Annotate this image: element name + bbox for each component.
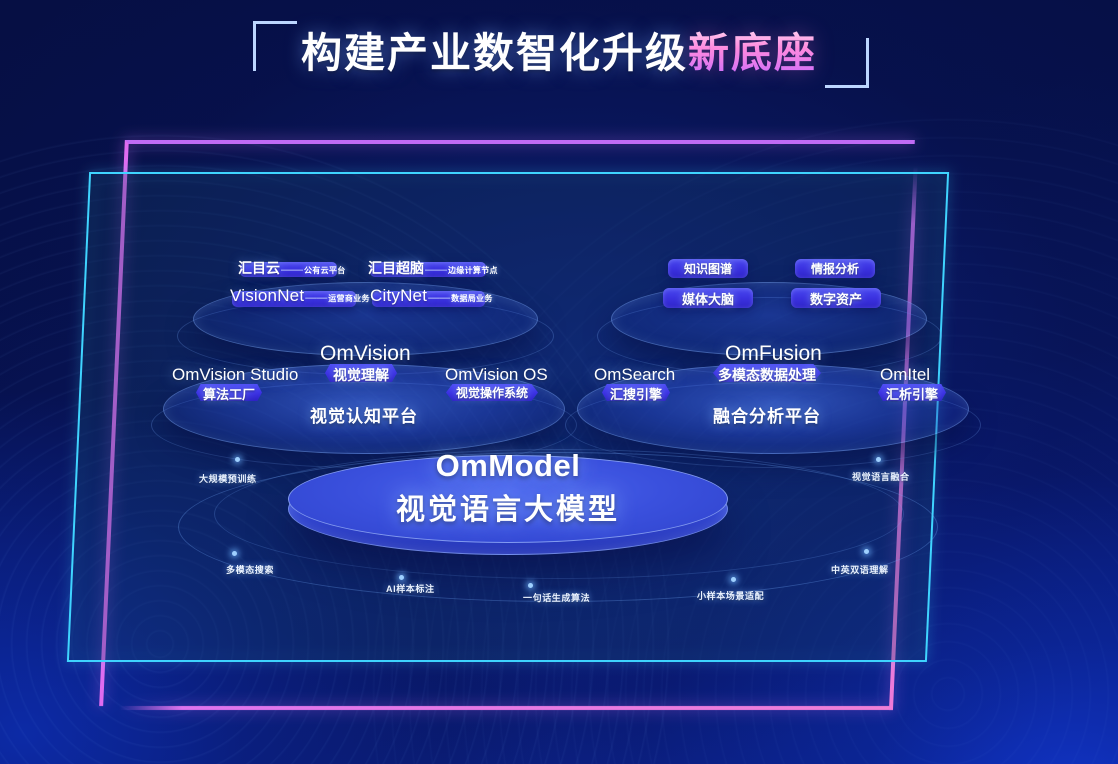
cloud-item-desc: 运营商业务 [328,293,370,304]
cloud-item-media-brain[interactable]: 媒体大脑 [663,288,753,308]
platform-label-fusion-analysis: 融合分析平台 [713,402,821,427]
ommodel-title-en[interactable]: OmModel [288,448,728,484]
brand-omitel-en[interactable]: OmItel [880,365,930,385]
cloud-item-huimuchaonao[interactable]: 汇目超脑 —— 边缘计算节点 [368,258,498,278]
dash-separator: —— [305,292,327,304]
brand-omvision-en[interactable]: OmVision [320,342,411,366]
feature-label-bilingual[interactable]: 中英双语理解 [831,563,889,576]
cloud-item-name: VisionNet [230,286,304,306]
feature-node-dot [876,457,881,462]
cloud-item-name: 汇目超脑 [368,258,424,278]
feature-node-dot [864,549,869,554]
dash-separator: —— [428,292,450,304]
cloud-item-huimuyun[interactable]: 汇目云 —— 公有云平台 [238,258,346,278]
ommodel-title-cn[interactable]: 视觉语言大模型 [288,486,728,528]
bracket-bottom-right-icon [825,38,869,88]
cloud-item-visionnet[interactable]: VisionNet —— 运营商业务 [230,286,370,306]
title-area: 构建产业数智化升级新底座 [0,14,1118,92]
brand-omsearch-en[interactable]: OmSearch [594,365,675,385]
feature-label-ai-annotation[interactable]: AI样本标注 [386,582,435,595]
brand-omvision-os-en[interactable]: OmVision OS [445,365,548,385]
bracket-top-left-icon [253,21,297,71]
feature-label-fewshot-adapt[interactable]: 小样本场景适配 [697,589,764,602]
brand-omvision-cn[interactable]: 视觉理解 [327,365,395,385]
brand-omfusion-en[interactable]: OmFusion [725,342,822,366]
cloud-item-name: 汇目云 [238,258,280,278]
feature-label-pretraining[interactable]: 大规模预训练 [199,472,257,485]
brand-omvision-studio-cn[interactable]: 算法工厂 [200,384,258,403]
cloud-item-knowledge-graph[interactable]: 知识图谱 [668,259,748,278]
feature-node-dot [528,583,533,588]
dash-separator: —— [425,264,447,276]
feature-node-dot [232,551,237,556]
page-title-main: 构建产业数智化升级 [301,29,688,77]
cloud-item-name: CityNet [370,286,427,306]
cloud-item-intel-analysis[interactable]: 情报分析 [795,259,875,278]
cloud-item-desc: 边缘计算节点 [448,265,498,276]
cloud-item-digital-asset[interactable]: 数字资产 [791,288,881,308]
brand-omfusion-cn[interactable]: 多模态数据处理 [715,365,819,385]
brand-omitel-cn[interactable]: 汇析引擎 [880,384,944,403]
feature-node-dot [731,577,736,582]
feature-label-vl-fusion[interactable]: 视觉语言融合 [852,470,910,483]
cloud-item-citynet[interactable]: CityNet —— 数据局业务 [370,286,493,306]
cloud-item-desc: 数据局业务 [451,293,493,304]
slide-canvas: 构建产业数智化升级新底座 汇目云 —— 公有云平台 汇目超脑 —— 边缘计算节点… [0,0,1118,764]
brand-omvision-studio-en[interactable]: OmVision Studio [172,365,298,385]
feature-label-multimodal-search[interactable]: 多模态搜索 [226,563,274,576]
platform-label-visual-cognition: 视觉认知平台 [310,402,418,427]
feature-node-dot [235,457,240,462]
feature-label-one-sentence-gen[interactable]: 一句话生成算法 [523,591,590,604]
brand-omsearch-cn[interactable]: 汇搜引擎 [604,384,668,403]
dash-separator: —— [281,264,303,276]
cloud-item-desc: 公有云平台 [304,265,346,276]
feature-node-dot [399,575,404,580]
brand-omvision-os-cn[interactable]: 视觉操作系统 [448,384,536,401]
page-title-highlight: 新底座 [688,29,817,77]
